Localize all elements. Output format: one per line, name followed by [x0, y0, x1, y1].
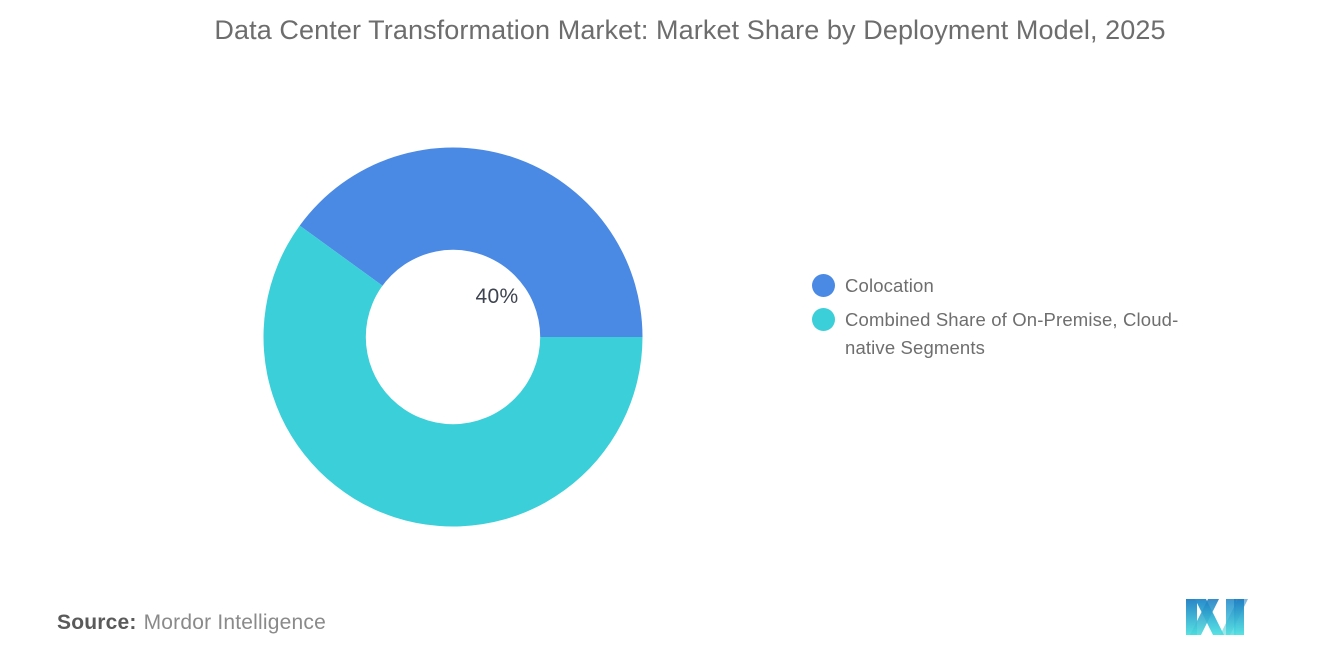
legend-item-label: Colocation: [845, 272, 934, 300]
legend-color-swatch-icon: [812, 308, 835, 331]
legend-color-swatch-icon: [812, 274, 835, 297]
legend-item-combined-share[interactable]: Combined Share of On-Premise, Cloud-nati…: [812, 306, 1212, 362]
chart-legend: Colocation Combined Share of On-Premise,…: [812, 272, 1212, 368]
chart-title: Data Center Transformation Market: Marke…: [160, 10, 1220, 51]
slice-value-label-colocation: 40%: [437, 285, 557, 309]
mordor-intelligence-logo-icon: [1186, 597, 1252, 637]
legend-item-colocation[interactable]: Colocation: [812, 272, 1212, 300]
donut-svg: [237, 121, 669, 553]
donut-hole: [366, 250, 540, 424]
chart-plot-area: 40%: [0, 100, 800, 570]
donut-chart: [237, 121, 669, 553]
source-line: Source:Mordor Intelligence: [57, 611, 326, 635]
logo-svg: [1186, 597, 1252, 637]
source-label: Source:: [57, 611, 137, 634]
source-value: Mordor Intelligence: [144, 611, 326, 634]
legend-item-label: Combined Share of On-Premise, Cloud-nati…: [845, 306, 1190, 362]
